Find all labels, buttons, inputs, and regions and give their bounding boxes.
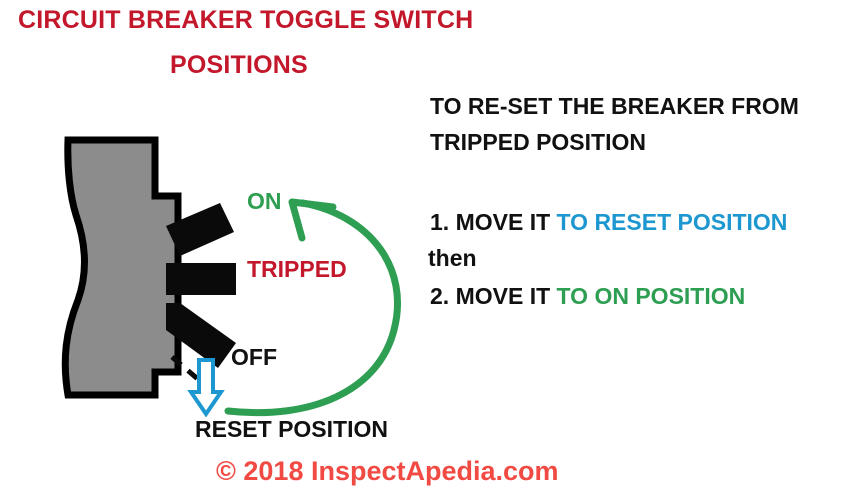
- label-tripped: TRIPPED: [247, 258, 347, 281]
- toggle-paddle-tripped: [166, 263, 236, 295]
- step-2-prefix: 2. MOVE IT: [430, 283, 557, 309]
- reset-to-on-arrowhead: [292, 202, 333, 238]
- diagram-canvas: CIRCUIT BREAKER TOGGLE SWITCH POSITIONS …: [0, 0, 860, 496]
- reset-direction-arrow: [191, 360, 221, 414]
- instruction-step-2: 2. MOVE IT TO ON POSITION: [430, 285, 745, 308]
- step-1-highlight: TO RESET POSITION: [557, 209, 788, 235]
- reset-to-on-curved-arrow: [228, 203, 398, 413]
- label-off: OFF: [231, 346, 277, 369]
- step-1-prefix: 1. MOVE IT: [430, 209, 557, 235]
- copyright-credit: © 2018 InspectApedia.com: [216, 458, 559, 485]
- breaker-body-shape: [65, 140, 178, 395]
- instruction-step-1: 1. MOVE IT TO RESET POSITION: [430, 211, 787, 234]
- label-reset-position: RESET POSITION: [195, 418, 388, 441]
- instruction-connector: then: [428, 247, 477, 270]
- step-2-highlight: TO ON POSITION: [557, 283, 746, 309]
- instructions-heading-line-2: TRIPPED POSITION: [430, 131, 646, 154]
- instructions-heading-line-1: TO RE-SET THE BREAKER FROM: [430, 95, 799, 118]
- label-on: ON: [247, 190, 282, 213]
